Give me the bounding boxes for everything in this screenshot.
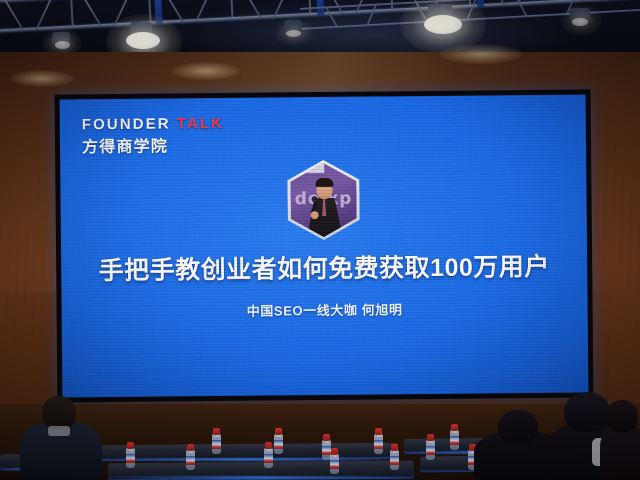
led-screen-bezel: FOUNDERTALK 方得商学院 de xp [55, 89, 594, 402]
slide-subtitle: 中国SEO一线大咖 何旭明 [62, 297, 588, 321]
conference-photo-scene: FOUNDERTALK 方得商学院 de xp [0, 0, 640, 480]
water-bottle [126, 442, 135, 468]
led-screen: FOUNDERTALK 方得商学院 de xp [60, 94, 589, 397]
water-bottle [426, 434, 435, 460]
water-bottle [186, 444, 195, 470]
water-bottle [374, 428, 383, 454]
brand-founder-text: FOUNDER [82, 115, 171, 133]
brand-lockup: FOUNDERTALK 方得商学院 [82, 116, 225, 156]
water-bottle [390, 444, 399, 470]
light-reflection-1 [10, 70, 74, 87]
speaker-glasses [317, 186, 331, 190]
water-bottle [450, 424, 459, 450]
brand-wordmark: FOUNDERTALK [82, 116, 224, 132]
microphone-head-icon [312, 196, 318, 202]
light-reflection-3 [440, 44, 522, 64]
slide-title: 手把手教创业者如何免费获取100万用户 [61, 246, 587, 287]
speaker-portrait-hexagon: de xp [287, 160, 360, 241]
audience-person-right-c [600, 400, 640, 480]
water-bottle [212, 428, 221, 454]
presentation-slide: FOUNDERTALK 方得商学院 de xp [60, 94, 589, 397]
brand-talk-text: TALK [177, 115, 224, 132]
speaker-hand [311, 211, 319, 219]
audience-person-left [20, 396, 102, 480]
water-bottle [274, 428, 283, 454]
brand-chinese-name: 方得商学院 [82, 139, 224, 156]
water-bottle [330, 448, 339, 474]
table-led-glow-3 [110, 476, 410, 479]
light-reflection-2 [172, 62, 240, 80]
water-bottle [264, 442, 273, 468]
